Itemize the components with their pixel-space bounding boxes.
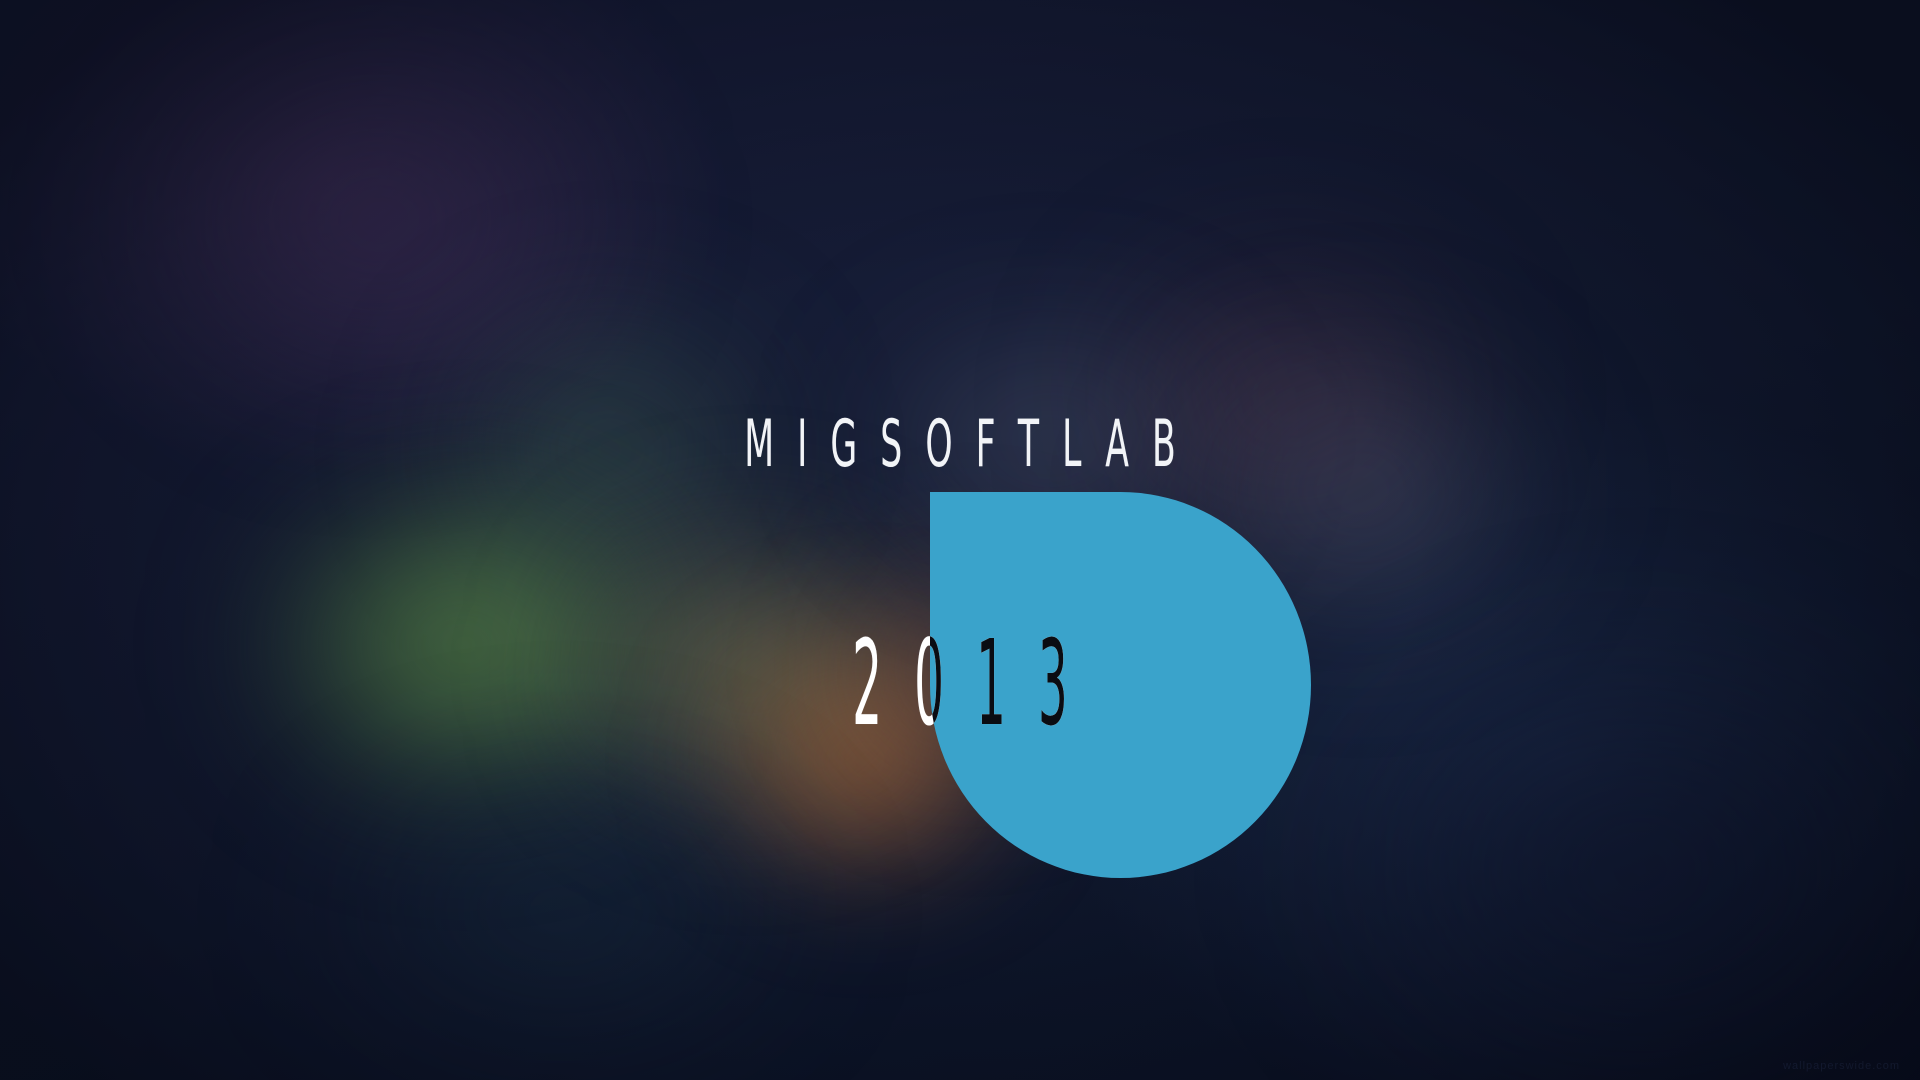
brand-wordmark: MIGSOFTLAB bbox=[365, 411, 1555, 476]
watermark-text: wallpaperswide.com bbox=[1783, 1060, 1900, 1072]
year-droplet-clip: 2013 bbox=[930, 492, 1311, 878]
year-label-dark: 2013 bbox=[930, 624, 1311, 742]
wallpaper-canvas: MIGSOFTLAB 2013 2013 wallpaperswide.com bbox=[0, 0, 1920, 1080]
